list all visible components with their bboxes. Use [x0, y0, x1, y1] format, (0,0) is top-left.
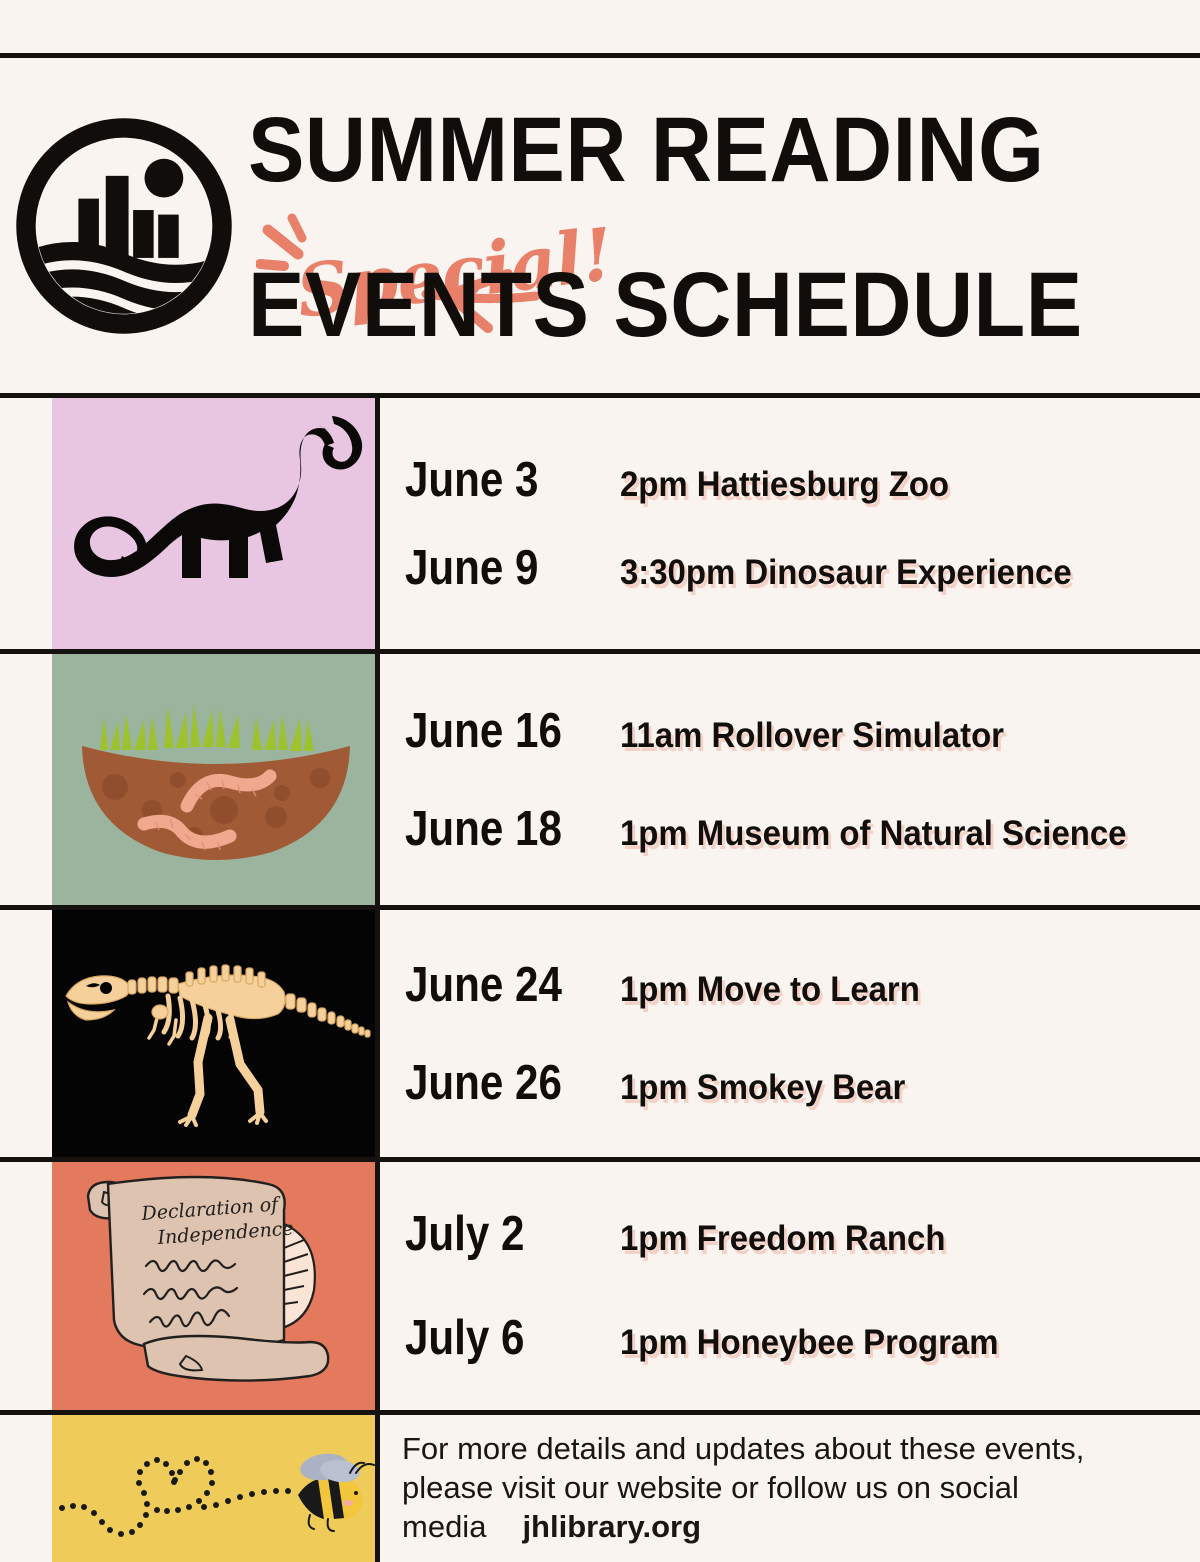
event-date: July 2 [405, 1206, 590, 1262]
row-text-column: June 16 11am Rollover Simulator June 18 … [380, 654, 1200, 905]
dinosaur-silhouette-illustration [52, 398, 375, 649]
event-item: June 18 1pm Museum of Natural Science [405, 801, 1200, 857]
event-item: June 26 1pm Smokey Bear [405, 1055, 1200, 1111]
title-line-summer-reading: SUMMER READING [248, 108, 1083, 193]
footer-description-text: For more details and updates about these… [402, 1431, 1084, 1544]
library-logo-icon [10, 112, 238, 340]
event-item: June 9 3:30pm Dinosaur Experience [405, 540, 1200, 596]
event-item: July 6 1pm Honeybee Program [405, 1310, 1200, 1366]
dinosaur-skeleton-illustration [52, 910, 375, 1157]
schedule-row: June 24 1pm Move to Learn June 26 1pm Sm… [0, 905, 1200, 1157]
event-description: 1pm Move to Learn [620, 970, 920, 1010]
footer-text-column: For more details and updates about these… [380, 1415, 1200, 1562]
declaration-scroll-icon: Declaration of Independence [52, 1162, 375, 1410]
event-description: 2pm Hattiesburg Zoo [620, 465, 949, 505]
bee-icon [52, 1415, 375, 1562]
schedule-row: June 16 11am Rollover Simulator June 18 … [0, 649, 1200, 905]
poster-canvas: SUMMER READING Special! EVENTS SCHEDULE [0, 0, 1200, 1553]
schedule-row: Declaration of Independence July 2 1pm F… [0, 1157, 1200, 1410]
sauropod-icon [52, 398, 375, 649]
row-text-column: June 3 2pm Hattiesburg Zoo June 9 3:30pm… [380, 398, 1200, 649]
event-description: 11am Rollover Simulator [620, 716, 1004, 756]
declaration-scroll-illustration: Declaration of Independence [52, 1162, 375, 1410]
schedule-rows: June 3 2pm Hattiesburg Zoo June 9 3:30pm… [0, 393, 1200, 1562]
fossil-skeleton-icon [52, 910, 375, 1157]
row-image-column [0, 1415, 380, 1562]
row-text-column: July 2 1pm Freedom Ranch July 6 1pm Hone… [380, 1162, 1200, 1410]
row-image-column: Declaration of Independence [0, 1162, 380, 1410]
event-date: June 9 [405, 540, 590, 596]
event-description: 1pm Honeybee Program [620, 1323, 998, 1363]
event-date: June 24 [405, 957, 590, 1013]
poster-header: SUMMER READING Special! EVENTS SCHEDULE [0, 58, 1200, 393]
event-item: June 16 11am Rollover Simulator [405, 703, 1200, 759]
bee-illustration [52, 1415, 375, 1562]
logo-container [0, 112, 248, 340]
event-item: July 2 1pm Freedom Ranch [405, 1206, 1200, 1262]
event-description: 3:30pm Dinosaur Experience [620, 553, 1072, 593]
schedule-row: June 3 2pm Hattiesburg Zoo June 9 3:30pm… [0, 393, 1200, 649]
soil-worms-icon [52, 654, 375, 905]
event-date: June 16 [405, 703, 590, 759]
row-text-column: June 24 1pm Move to Learn June 26 1pm Sm… [380, 910, 1200, 1157]
event-description: 1pm Smokey Bear [620, 1068, 905, 1108]
footer-website-link[interactable]: jhlibrary.org [522, 1509, 701, 1544]
title-block: SUMMER READING Special! EVENTS SCHEDULE [248, 104, 1200, 347]
footer-description: For more details and updates about these… [402, 1430, 1200, 1546]
row-image-column [0, 398, 380, 649]
event-description: 1pm Museum of Natural Science [620, 814, 1126, 854]
event-item: June 3 2pm Hattiesburg Zoo [405, 452, 1200, 508]
event-date: June 3 [405, 452, 590, 508]
event-date: July 6 [405, 1310, 590, 1366]
footer-row: For more details and updates about these… [0, 1410, 1200, 1562]
event-description: 1pm Freedom Ranch [620, 1219, 945, 1259]
event-date: June 26 [405, 1055, 590, 1111]
title-line-events-schedule: EVENTS SCHEDULE [248, 263, 1083, 348]
event-item: June 24 1pm Move to Learn [405, 957, 1200, 1013]
row-image-column [0, 910, 380, 1157]
row-image-column [0, 654, 380, 905]
event-date: June 18 [405, 801, 590, 857]
soil-worms-illustration [52, 654, 375, 905]
